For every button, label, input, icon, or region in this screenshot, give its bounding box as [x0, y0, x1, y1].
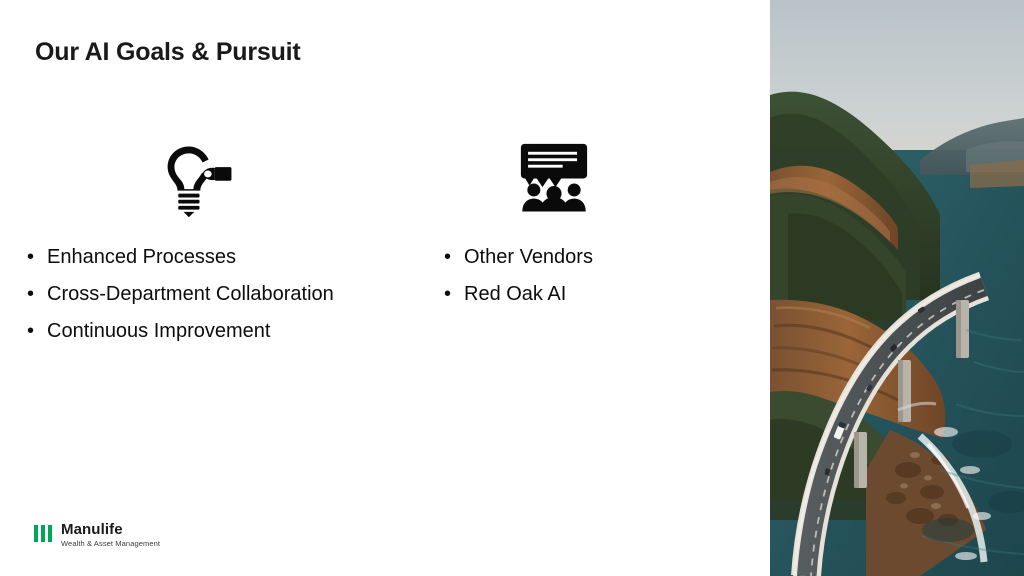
bullet-label: Enhanced Processes — [47, 247, 236, 267]
bullet-marker: • — [27, 247, 47, 267]
bullet-marker: • — [444, 247, 464, 267]
bullet-marker: • — [27, 321, 47, 341]
list-item: • Other Vendors — [444, 247, 744, 267]
bullet-label: Continuous Improvement — [47, 321, 270, 341]
list-item: • Red Oak AI — [444, 284, 744, 304]
manulife-bars-icon — [34, 525, 52, 542]
audience-presentation-icon — [518, 142, 590, 212]
list-item: • Enhanced Processes — [27, 247, 417, 267]
logo-text-group: Manulife Wealth & Asset Management — [61, 522, 160, 548]
lightbulb-plug-icon — [160, 142, 236, 218]
bullet-label: Cross-Department Collaboration — [47, 284, 334, 304]
manulife-logo: Manulife Wealth & Asset Management — [34, 522, 160, 548]
list-item: • Cross-Department Collaboration — [27, 284, 417, 304]
slide-canvas: Our AI Goals & Pursuit — [0, 0, 1024, 576]
bullet-column-goals: • Enhanced Processes • Cross-Department … — [27, 247, 417, 358]
bullet-column-pursuit: • Other Vendors • Red Oak AI — [444, 247, 744, 321]
bullet-marker: • — [444, 284, 464, 304]
bullet-marker: • — [27, 284, 47, 304]
logo-tagline: Wealth & Asset Management — [61, 539, 160, 548]
logo-wordmark: Manulife — [61, 522, 160, 538]
bullet-label: Other Vendors — [464, 247, 593, 267]
list-item: • Continuous Improvement — [27, 321, 417, 341]
page-title: Our AI Goals & Pursuit — [35, 38, 301, 67]
coastal-cliff-bridge-photo — [770, 0, 1024, 576]
bullet-label: Red Oak AI — [464, 284, 566, 304]
